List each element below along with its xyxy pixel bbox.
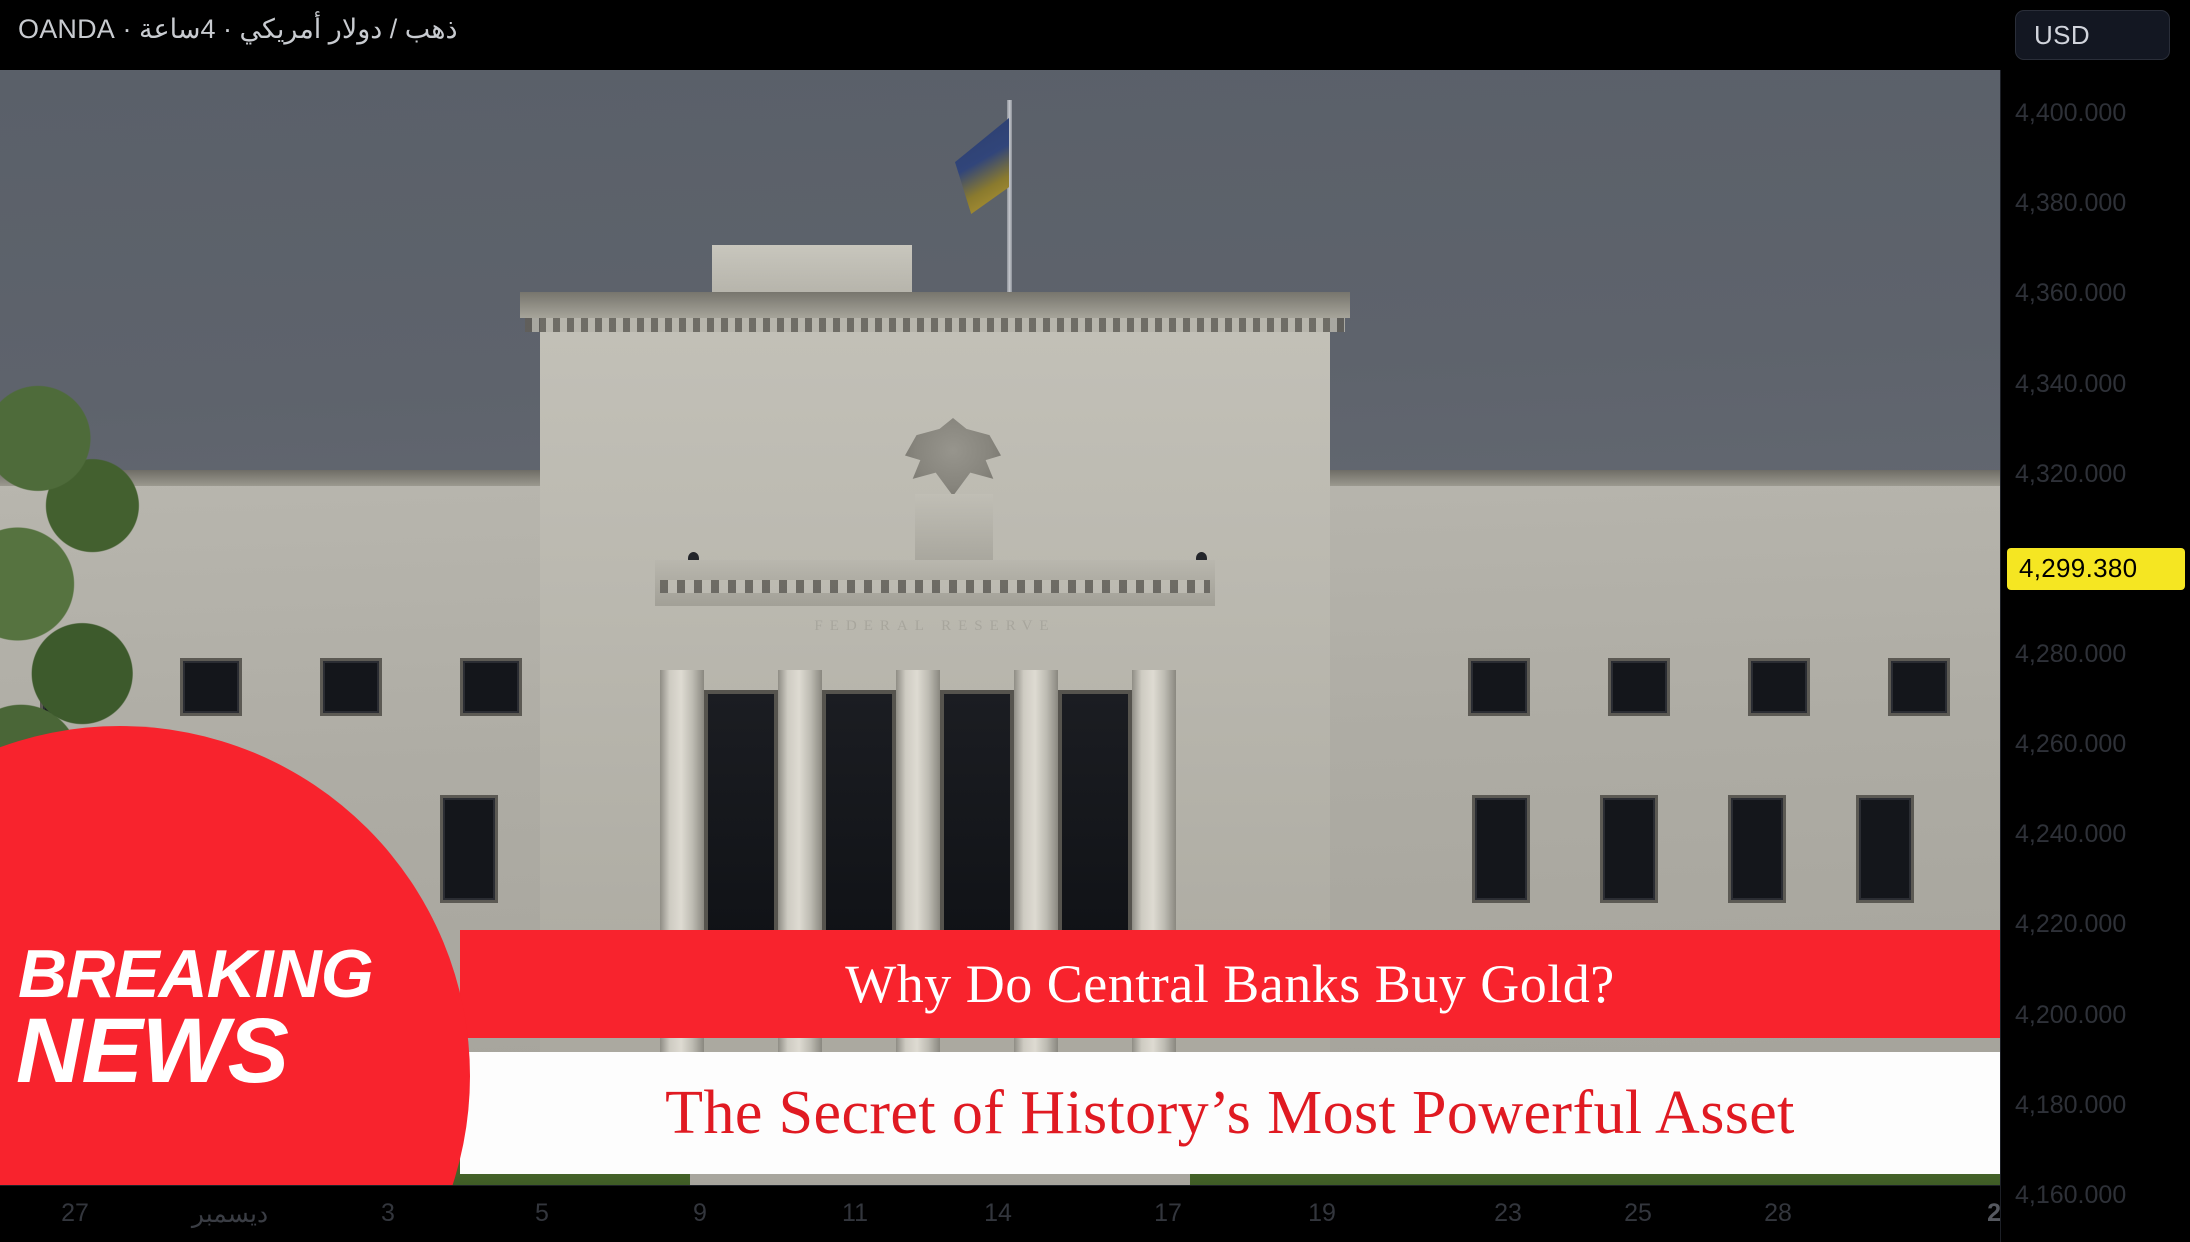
facade-window [1888,658,1950,716]
headline-primary-text: Why Do Central Banks Buy Gold? [845,953,1614,1015]
time-axis-tick: 28 [1764,1199,1792,1228]
time-axis-tick: 11 [842,1199,868,1228]
facade-window [180,658,242,716]
time-axis[interactable]: 27ديسمبر35911141719232528202 [0,1185,2190,1242]
dentil-molding [525,318,1345,332]
chart-pane[interactable]: FEDERAL RESERVE [0,70,2000,1185]
price-axis-tick: 4,260.000 [2001,730,2190,759]
price-axis-tick: 4,200.000 [2001,1001,2190,1030]
price-axis-tick: 4,360.000 [2001,279,2190,308]
facade-window [1748,658,1810,716]
price-axis-tick: 4,380.000 [2001,189,2190,218]
time-axis-tick: 5 [535,1199,549,1228]
time-axis-tick: 3 [381,1199,395,1228]
top-bar: ذهب / دولار أمريكي · 4ساعة · OANDA USD [0,0,2190,70]
time-axis-tick: 9 [693,1199,707,1228]
facade-window [1856,795,1914,903]
building-attic [712,245,912,299]
price-axis-tick: 4,240.000 [2001,820,2190,849]
current-price-badge: 4,299.380 [2007,548,2185,590]
time-axis-tick: 19 [1308,1199,1336,1228]
currency-label: USD [2016,20,2108,51]
price-axis-tick: 4,220.000 [2001,910,2190,939]
facade-window [320,658,382,716]
building-inscription: FEDERAL RESERVE [700,618,1170,635]
center-cornice [520,292,1350,318]
headline-primary-bar: Why Do Central Banks Buy Gold? [460,930,2000,1038]
time-axis-tick: 27 [61,1199,89,1228]
headline-secondary-text: The Secret of History’s Most Powerful As… [665,1078,1795,1149]
time-axis-tick: 17 [1154,1199,1182,1228]
facade-window [440,795,498,903]
facade-window [1728,795,1786,903]
chart-application: ذهب / دولار أمريكي · 4ساعة · OANDA USD F… [0,0,2190,1242]
breaking-news-label-line1: BREAKING [18,940,373,1008]
facade-window [1468,658,1530,716]
facade-window [460,658,522,716]
price-axis-tick: 4,180.000 [2001,1091,2190,1120]
time-axis-tick: 23 [1494,1199,1522,1228]
price-axis-tick: 4,340.000 [2001,370,2190,399]
facade-window [1608,658,1670,716]
facade-window [1600,795,1658,903]
time-axis-tick: 14 [984,1199,1012,1228]
time-axis-tick: 25 [1624,1199,1652,1228]
price-axis[interactable]: 4,400.0004,380.0004,360.0004,340.0004,32… [2000,70,2190,1242]
price-axis-tick: 4,280.000 [2001,640,2190,669]
symbol-title[interactable]: ذهب / دولار أمريكي · 4ساعة · OANDA [18,14,458,45]
breaking-news-label-line2: NEWS [16,1005,288,1097]
eagle-plinth [915,494,993,560]
facade-window [1472,795,1530,903]
currency-selector[interactable]: USD [2015,10,2170,60]
portico-dentil [660,580,1210,593]
price-axis-tick: 4,400.000 [2001,99,2190,128]
price-axis-tick: 4,160.000 [2001,1181,2190,1210]
price-axis-tick: 4,320.000 [2001,460,2190,489]
time-axis-tick: ديسمبر [192,1199,268,1229]
headline-secondary-bar: The Secret of History’s Most Powerful As… [460,1052,2000,1174]
